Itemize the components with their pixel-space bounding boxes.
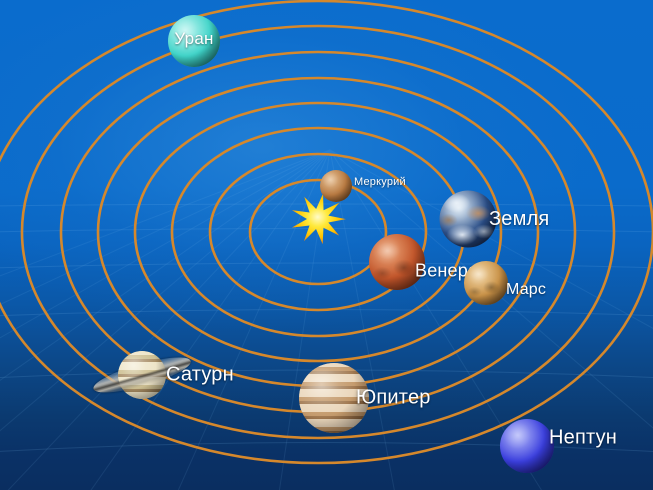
planet-shading-neptune <box>500 419 554 473</box>
planet-earth[interactable]: Земля <box>440 191 497 248</box>
planet-sphere-mercury <box>320 170 352 202</box>
planet-venus[interactable]: Венера <box>369 234 425 290</box>
planet-uranus[interactable]: Уран <box>168 15 220 67</box>
planet-texture-neptune <box>500 419 554 473</box>
planet-shading-mars <box>464 261 508 305</box>
planet-texture-mars <box>464 261 508 305</box>
planet-texture-saturn <box>118 351 166 399</box>
planet-texture-venus <box>369 234 425 290</box>
planet-sphere-earth <box>440 191 497 248</box>
planet-texture-earth <box>440 191 497 248</box>
planet-mars[interactable]: Марс <box>464 261 508 305</box>
planet-sphere-saturn <box>118 351 166 399</box>
planet-shading-jupiter <box>299 363 369 433</box>
planet-shading-uranus <box>168 15 220 67</box>
planet-shading-mercury <box>320 170 352 202</box>
planet-jupiter[interactable]: Юпитер <box>299 363 369 433</box>
planet-sphere-uranus <box>168 15 220 67</box>
planet-shading-saturn <box>118 351 166 399</box>
planet-sphere-mars <box>464 261 508 305</box>
planet-shading-venus <box>369 234 425 290</box>
planet-texture-mercury <box>320 170 352 202</box>
planet-sphere-venus <box>369 234 425 290</box>
solar-system-slide: МеркурийВенераЗемляМарсЮпитерСатурнУранН… <box>0 0 653 490</box>
planet-texture-jupiter <box>299 363 369 433</box>
planet-neptune[interactable]: Нептун <box>500 419 554 473</box>
planet-saturn[interactable]: Сатурн <box>118 351 166 399</box>
planet-sphere-neptune <box>500 419 554 473</box>
planet-shading-earth <box>440 191 497 248</box>
planet-mercury[interactable]: Меркурий <box>320 170 352 202</box>
planet-sphere-jupiter <box>299 363 369 433</box>
planet-texture-uranus <box>168 15 220 67</box>
